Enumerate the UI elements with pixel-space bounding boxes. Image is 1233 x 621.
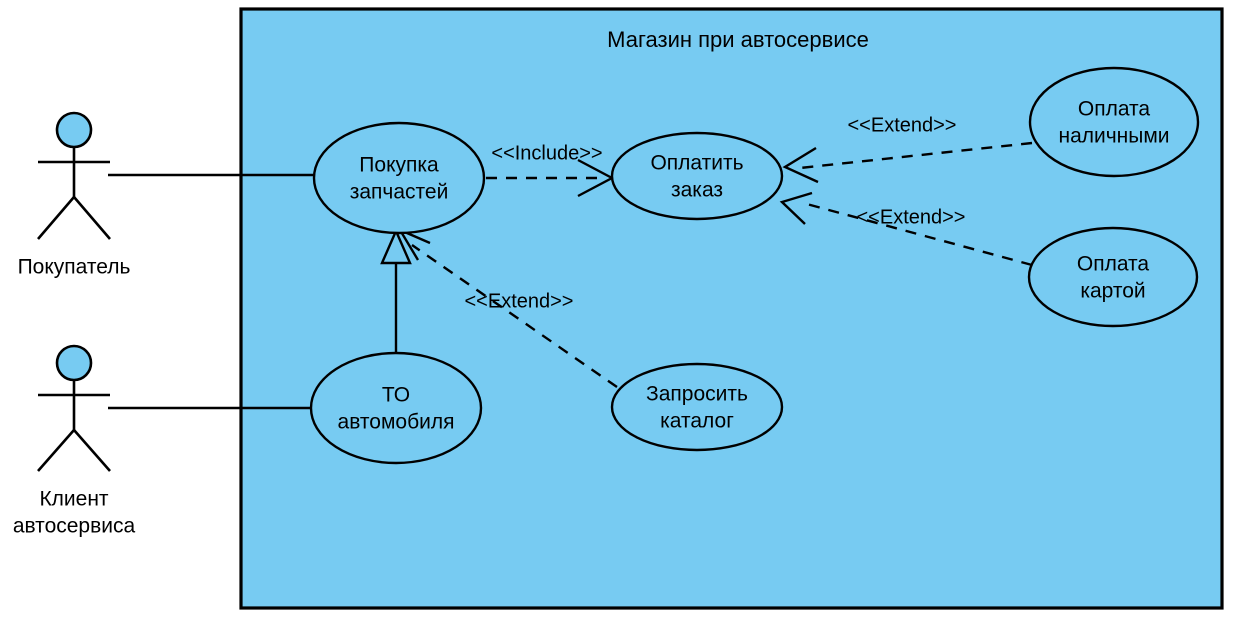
use-case-pay-cash-label-line1: Оплата <box>1078 98 1151 121</box>
system-boundary-title: Магазин при автосервисе <box>607 27 869 52</box>
include-stereotype-label: <<Include>> <box>491 142 602 164</box>
actor-service-client-label-line1: Клиент <box>39 488 108 511</box>
actor-buyer-head-icon <box>57 113 91 147</box>
use-case-request-catalog-label-line1: Запросить <box>646 383 748 406</box>
extend-cash-stereotype-label: <<Extend>> <box>848 114 957 136</box>
uml-use-case-diagram: Магазин при автосервисе <<Include>> <<Ex… <box>0 0 1233 621</box>
actor-buyer[interactable]: Покупатель <box>18 113 131 279</box>
use-case-pay-order[interactable]: Оплатить заказ <box>612 133 782 219</box>
use-case-car-maintenance-label-line1: ТО <box>382 384 410 407</box>
extend-card-stereotype-label: <<Extend>> <box>857 206 966 228</box>
diagram-canvas: Магазин при автосервисе <<Include>> <<Ex… <box>0 0 1233 621</box>
use-case-request-catalog[interactable]: Запросить каталог <box>612 364 782 450</box>
use-case-pay-cash-ellipse[interactable] <box>1030 68 1198 176</box>
use-case-pay-order-label-line1: Оплатить <box>650 152 743 175</box>
actor-buyer-label: Покупатель <box>18 256 131 279</box>
use-case-pay-cash-label-line2: наличными <box>1058 125 1169 148</box>
use-case-request-catalog-label-line2: каталог <box>660 410 734 433</box>
extend-catalog-stereotype-label: <<Extend>> <box>465 290 574 312</box>
use-case-request-catalog-ellipse[interactable] <box>612 364 782 450</box>
use-case-pay-card-ellipse[interactable] <box>1029 228 1197 326</box>
use-case-car-maintenance[interactable]: ТО автомобиля <box>311 353 481 463</box>
use-case-buy-parts[interactable]: Покупка запчастей <box>314 123 484 233</box>
use-case-pay-order-label-line2: заказ <box>671 179 723 202</box>
use-case-pay-card-label-line2: картой <box>1080 280 1145 303</box>
use-case-car-maintenance-ellipse[interactable] <box>311 353 481 463</box>
use-case-pay-order-ellipse[interactable] <box>612 133 782 219</box>
actor-service-client-right-leg-icon <box>74 430 110 471</box>
use-case-pay-card-label-line1: Оплата <box>1077 253 1150 276</box>
actor-service-client-label-line2: автосервиса <box>13 515 136 538</box>
actor-buyer-left-leg-icon <box>38 197 74 239</box>
use-case-pay-cash[interactable]: Оплата наличными <box>1030 68 1198 176</box>
use-case-buy-parts-label-line1: Покупка <box>359 154 439 177</box>
use-case-buy-parts-label-line2: запчастей <box>350 181 449 204</box>
actor-buyer-right-leg-icon <box>74 197 110 239</box>
use-case-buy-parts-ellipse[interactable] <box>314 123 484 233</box>
actor-service-client[interactable]: Клиент автосервиса <box>13 346 136 538</box>
actor-service-client-head-icon <box>57 346 91 380</box>
use-case-pay-card[interactable]: Оплата картой <box>1029 228 1197 326</box>
use-case-car-maintenance-label-line2: автомобиля <box>338 411 455 434</box>
actor-service-client-left-leg-icon <box>38 430 74 471</box>
